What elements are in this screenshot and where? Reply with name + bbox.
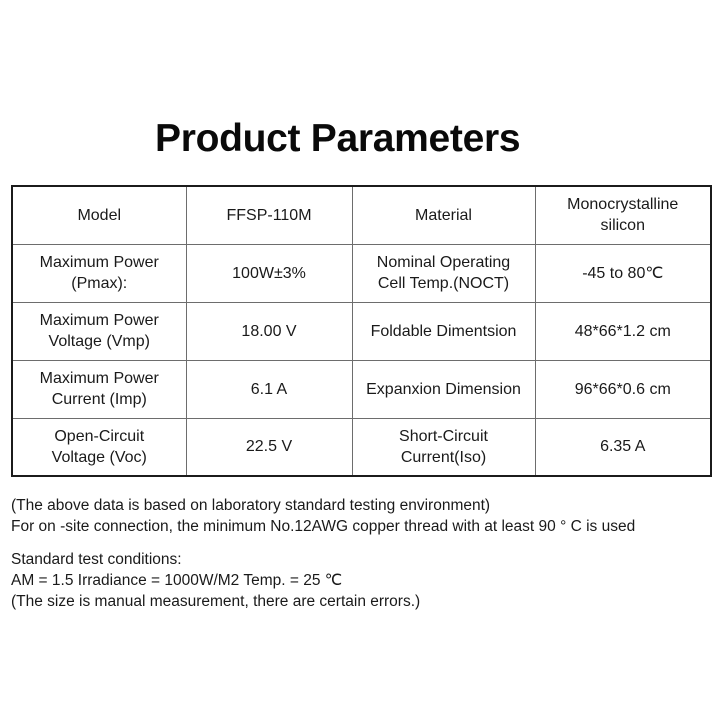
spec-value-imp: 6.1 A [186, 360, 352, 418]
product-parameters-page: Product Parameters Model FFSP-110M Mater… [0, 0, 720, 720]
spec-value-material-line1: Monocrystalline [539, 194, 708, 215]
spec-label-voc: Open-Circuit Voltage (Voc) [12, 418, 186, 476]
footnotes: (The above data is based on laboratory s… [11, 495, 711, 612]
spec-label-pmax: Maximum Power (Pmax): [12, 244, 186, 302]
spec-label-noct-line2: Cell Temp.(NOCT) [356, 273, 532, 294]
spec-label-vmp-line1: Maximum Power [16, 310, 183, 331]
spec-label-material: Material [352, 186, 535, 244]
spec-value-noct: -45 to 80℃ [535, 244, 711, 302]
spec-value-pmax: 100W±3% [186, 244, 352, 302]
footnote-standard-test-conditions: Standard test conditions: [11, 549, 711, 570]
spec-label-voc-line1: Open-Circuit [16, 426, 183, 447]
spec-value-material: Monocrystalline silicon [535, 186, 711, 244]
spec-value-iso: 6.35 A [535, 418, 711, 476]
spec-value-voc: 22.5 V [186, 418, 352, 476]
spec-label-pmax-line1: Maximum Power [16, 252, 183, 273]
spec-label-iso-line1: Short-Circuit [356, 426, 532, 447]
table-row: Maximum Power Current (Imp) 6.1 A Expanx… [12, 360, 711, 418]
spec-value-vmp: 18.00 V [186, 302, 352, 360]
spec-label-vmp: Maximum Power Voltage (Vmp) [12, 302, 186, 360]
spec-value-expansion-dimension: 96*66*0.6 cm [535, 360, 711, 418]
spec-label-iso-line2: Current(Iso) [356, 447, 532, 468]
footnote-test-parameters: AM = 1.5 Irradiance = 1000W/M2 Temp. = 2… [11, 570, 711, 591]
spec-value-model: FFSP-110M [186, 186, 352, 244]
footnote-measurement-error: (The size is manual measurement, there a… [11, 591, 711, 612]
footnote-lab-data: (The above data is based on laboratory s… [11, 495, 711, 516]
spec-label-imp-line2: Current (Imp) [16, 389, 183, 410]
spec-label-noct-line1: Nominal Operating [356, 252, 532, 273]
spec-label-model: Model [12, 186, 186, 244]
spec-label-pmax-line2: (Pmax): [16, 273, 183, 294]
spec-label-expansion-dimension: Expanxion Dimension [352, 360, 535, 418]
spec-label-foldable-dimension: Foldable Dimentsion [352, 302, 535, 360]
footnote-wiring: For on -site connection, the minimum No.… [11, 516, 711, 537]
table-row: Model FFSP-110M Material Monocrystalline… [12, 186, 711, 244]
spec-label-noct: Nominal Operating Cell Temp.(NOCT) [352, 244, 535, 302]
spec-label-vmp-line2: Voltage (Vmp) [16, 331, 183, 352]
table-row: Maximum Power Voltage (Vmp) 18.00 V Fold… [12, 302, 711, 360]
spec-label-voc-line2: Voltage (Voc) [16, 447, 183, 468]
spec-value-material-line2: silicon [539, 215, 708, 236]
table-row: Maximum Power (Pmax): 100W±3% Nominal Op… [12, 244, 711, 302]
specifications-table: Model FFSP-110M Material Monocrystalline… [11, 185, 712, 477]
table-row: Open-Circuit Voltage (Voc) 22.5 V Short-… [12, 418, 711, 476]
spec-label-imp: Maximum Power Current (Imp) [12, 360, 186, 418]
spec-label-iso: Short-Circuit Current(Iso) [352, 418, 535, 476]
spec-value-foldable-dimension: 48*66*1.2 cm [535, 302, 711, 360]
page-title: Product Parameters [155, 116, 520, 162]
spec-label-imp-line1: Maximum Power [16, 368, 183, 389]
